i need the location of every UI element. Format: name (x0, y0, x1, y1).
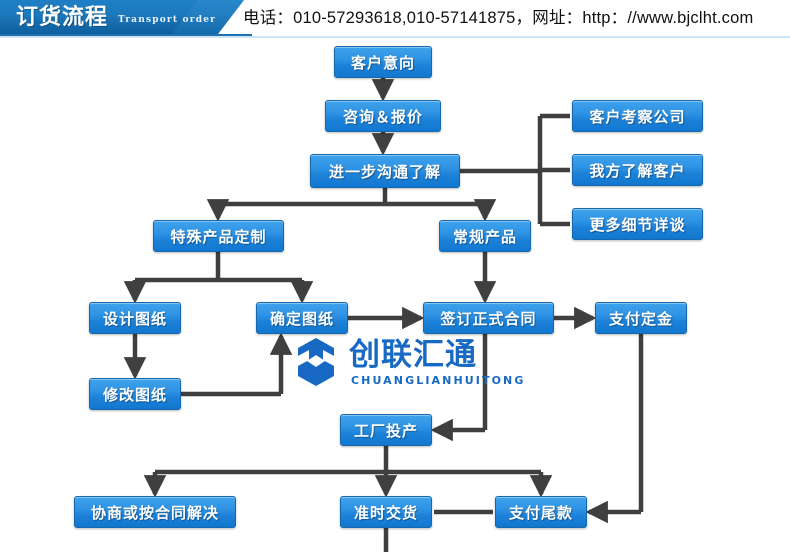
flow-node-sign-contract[interactable]: 签订正式合同 (423, 302, 554, 334)
flow-node-factory-production[interactable]: 工厂投产 (340, 414, 432, 446)
page-title: 订货流程 (16, 3, 108, 31)
page-title-english: Transport order (118, 14, 216, 26)
flow-node-on-time-delivery[interactable]: 准时交货 (340, 496, 432, 528)
flow-node-custom-product[interactable]: 特殊产品定制 (153, 220, 284, 252)
order-process-flowchart-page: 订货流程 Transport order 电话：010-57293618,010… (0, 0, 790, 552)
flow-node-consult-quote[interactable]: 咨询＆报价 (325, 100, 441, 132)
flow-node-pay-balance[interactable]: 支付尾款 (495, 496, 587, 528)
flow-node-standard-product[interactable]: 常规产品 (439, 220, 531, 252)
flow-node-negotiate-or-contract[interactable]: 协商或按合同解决 (74, 496, 236, 528)
flow-node-confirm-drawing[interactable]: 确定图纸 (256, 302, 348, 334)
flow-node-pay-deposit[interactable]: 支付定金 (595, 302, 687, 334)
flow-node-we-know-customer[interactable]: 我方了解客户 (572, 154, 703, 186)
flow-node-more-details[interactable]: 更多细节详谈 (572, 208, 703, 240)
flow-node-design-drawing[interactable]: 设计图纸 (89, 302, 181, 334)
header-contact-info: 电话：010-57293618,010-57141875，网址：http：//w… (243, 5, 753, 31)
flow-node-customer-visit[interactable]: 客户考察公司 (572, 100, 703, 132)
flowchart-canvas: 创联汇通 CHUANGLIANHUITONG 客户意向咨询＆报价进一步沟通了解客… (0, 38, 790, 552)
flow-node-customer-intent[interactable]: 客户意向 (334, 46, 432, 78)
flow-node-revise-drawing[interactable]: 修改图纸 (89, 378, 181, 410)
flow-node-further-communication[interactable]: 进一步沟通了解 (310, 154, 460, 188)
page-header: 订货流程 Transport order 电话：010-57293618,010… (0, 0, 790, 38)
